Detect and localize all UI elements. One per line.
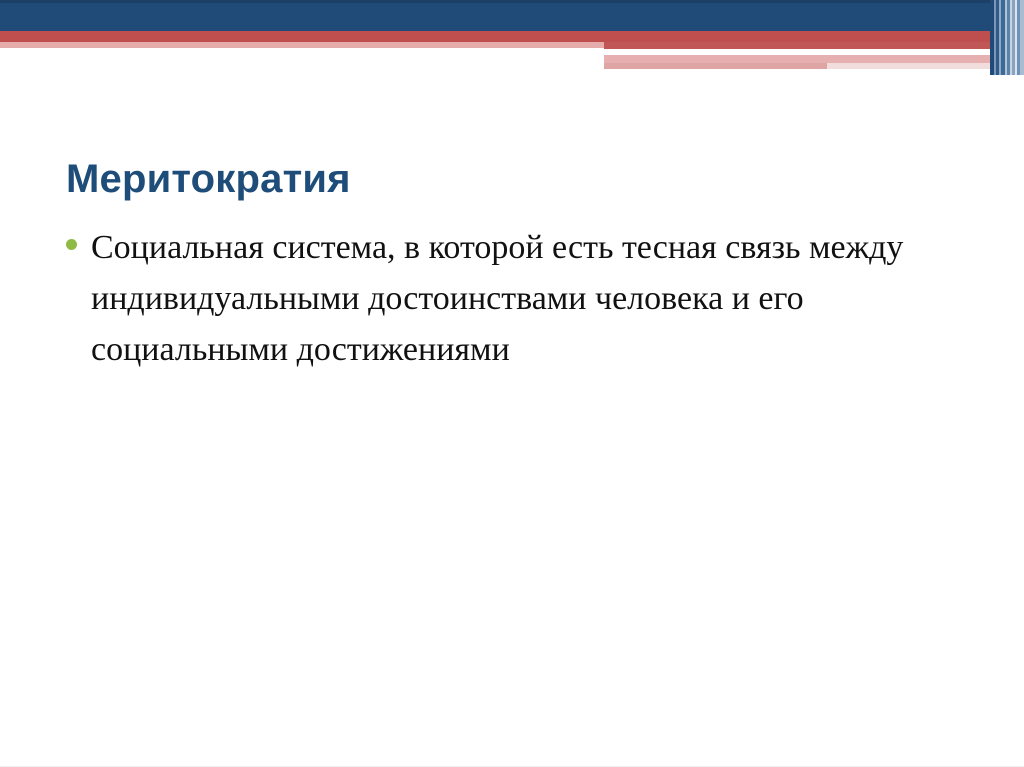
bullet-text: Социальная система, в которой есть тесна… — [91, 222, 926, 375]
slide-header-decoration — [0, 0, 1024, 75]
red-band-right — [604, 42, 1024, 49]
slide-body: Социальная система, в которой есть тесна… — [66, 222, 926, 375]
red-band — [0, 31, 1024, 42]
slide-title: Меритократия — [66, 155, 946, 203]
navy-band — [0, 0, 1024, 31]
corner-stripe-11 — [1020, 0, 1024, 75]
presentation-slide: Меритократия Социальная система, в котор… — [0, 0, 1024, 767]
bullet-list-item: Социальная система, в которой есть тесна… — [66, 222, 926, 375]
corner-stripes — [990, 0, 1024, 75]
bullet-dot-icon — [66, 239, 77, 250]
pink-band-lower — [604, 63, 827, 69]
pink-band-middle — [604, 55, 1024, 63]
pink-band-left — [0, 42, 604, 48]
navy-band-top-edge — [0, 0, 1024, 3]
